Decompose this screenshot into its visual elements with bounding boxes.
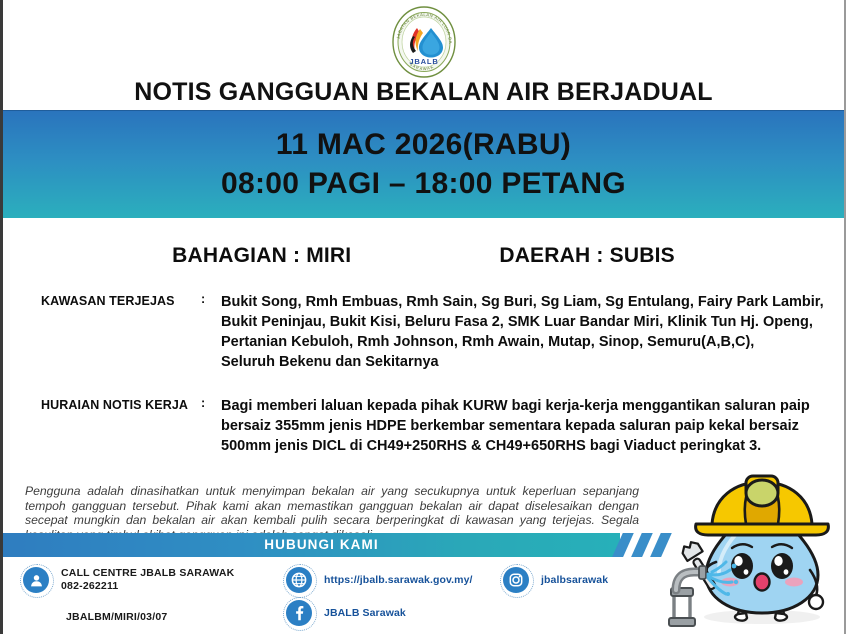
page-header: JABATAN BEKALAN AIR LUAR BANDAR SARAWAK … (3, 0, 844, 110)
notice-page: JABATAN BEKALAN AIR LUAR BANDAR SARAWAK … (0, 0, 846, 634)
field-value-line: Bagi memberi laluan kepada pihak KURW ba… (221, 396, 824, 416)
water-drop-mascot-with-hardhat (666, 462, 846, 634)
field-kawasan-terjejas: KAWASAN TERJEJAS : Bukit Song, Rmh Embua… (3, 292, 844, 372)
reference-code: JBALBM/MIRI/03/07 (66, 611, 167, 623)
contact-facebook-text: JBALB Sarawak (324, 607, 406, 620)
field-value-line: Seluruh Bekenu dan Sekitarnya (221, 352, 824, 372)
notice-date: 11 MAC 2026(RABU) (276, 128, 571, 163)
jbalb-water-drop-flame-logo: JABATAN BEKALAN AIR LUAR BANDAR SARAWAK … (391, 6, 457, 78)
field-value-line: Bukit Peninjau, Bukit Kisi, Beluru Fasa … (221, 312, 824, 332)
contact-call-centre[interactable]: CALL CENTRE JBALB SARAWAK 082-262211 (23, 567, 234, 593)
instagram-icon (503, 567, 529, 593)
bahagian-label: BAHAGIAN : MIRI (172, 244, 351, 268)
field-colon: : (201, 292, 221, 372)
field-colon: : (201, 396, 221, 456)
globe-icon (286, 567, 312, 593)
call-centre-name: CALL CENTRE JBALB SARAWAK (61, 567, 234, 580)
contact-list: CALL CENTRE JBALB SARAWAK 082-262211 htt… (3, 563, 703, 633)
field-value: Bukit Song, Rmh Embuas, Rmh Sain, Sg Bur… (221, 292, 844, 372)
daerah-label: DAERAH : SUBIS (499, 244, 674, 268)
contact-banner-label: HUBUNGI KAMI (3, 533, 620, 557)
field-value: Bagi memberi laluan kepada pihak KURW ba… (221, 396, 844, 456)
contact-website[interactable]: https://jbalb.sarawak.gov.my/ (286, 567, 473, 593)
notice-time: 08:00 PAGI – 18:00 PETANG (221, 167, 626, 202)
field-value-line: Pertanian Kebuloh, Rmh Johnson, Rmh Awai… (221, 332, 824, 352)
date-time-banner: 11 MAC 2026(RABU) 08:00 PAGI – 18:00 PET… (3, 110, 844, 218)
contact-facebook[interactable]: JBALB Sarawak (286, 600, 406, 626)
field-huraian-notis-kerja: HURAIAN NOTIS KERJA : Bagi memberi lalua… (3, 396, 844, 456)
facebook-icon (286, 600, 312, 626)
field-value-line: Bukit Song, Rmh Embuas, Rmh Sain, Sg Bur… (221, 292, 824, 312)
water-drop-mascot (666, 462, 846, 634)
website-url[interactable]: https://jbalb.sarawak.gov.my/ (324, 574, 473, 587)
contact-website-text: https://jbalb.sarawak.gov.my/ (324, 574, 473, 587)
region-row: BAHAGIAN : MIRI DAERAH : SUBIS (3, 244, 844, 268)
svg-text:JBALB: JBALB (409, 57, 438, 66)
page-title: NOTIS GANGGUAN BEKALAN AIR BERJADUAL (3, 78, 844, 107)
instagram-handle[interactable]: jbalbsarawak (541, 574, 608, 587)
call-centre-phone: 082-262211 (61, 580, 234, 593)
contact-instagram[interactable]: jbalbsarawak (503, 567, 608, 593)
jbalb-logo: JABATAN BEKALAN AIR LUAR BANDAR SARAWAK … (391, 6, 457, 78)
field-value-line: bersaiz 355mm jenis HDPE berkembar semen… (221, 416, 824, 436)
facebook-handle[interactable]: JBALB Sarawak (324, 607, 406, 620)
contact-instagram-text: jbalbsarawak (541, 574, 608, 587)
field-value-line: 500mm jenis DICL di CH49+250RHS & CH49+6… (221, 436, 824, 456)
contact-call-centre-text: CALL CENTRE JBALB SARAWAK 082-262211 (61, 567, 234, 593)
contact-banner: HUBUNGI KAMI (3, 533, 703, 557)
field-label: HURAIAN NOTIS KERJA (41, 396, 201, 456)
person-icon (23, 567, 49, 593)
field-label: KAWASAN TERJEJAS (41, 292, 201, 372)
